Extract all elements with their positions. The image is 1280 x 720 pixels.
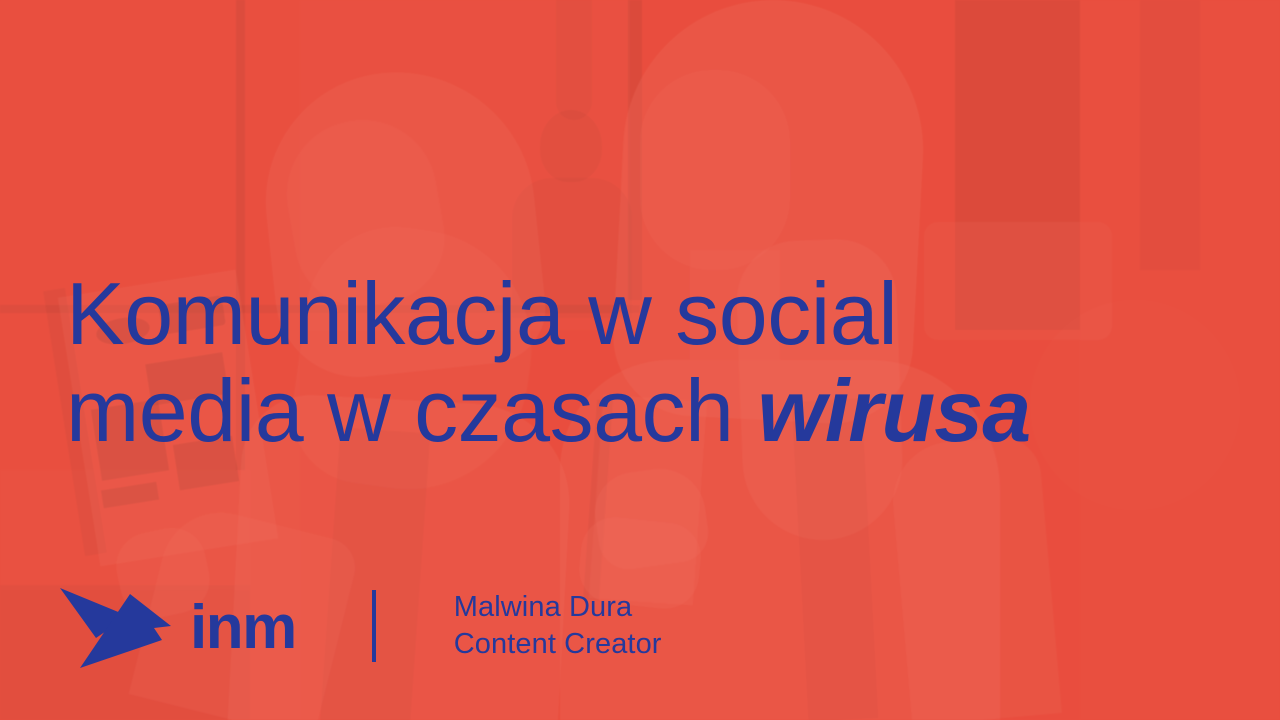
- brand-divider: [372, 590, 376, 662]
- inm-logo-wordmark: inm: [190, 597, 296, 659]
- headline-accent-word: wirusa: [757, 361, 1030, 460]
- presentation-slide: Komunikacja w social media w czasach wir…: [0, 0, 1280, 720]
- headline-line-2-prefix: media w czasach: [66, 361, 757, 460]
- headline-line-1: Komunikacja w social: [66, 264, 897, 363]
- page-title: Komunikacja w social media w czasach wir…: [66, 265, 1136, 459]
- inm-bird-logo-icon: [58, 582, 176, 670]
- presenter-credit: Malwina Dura Content Creator: [454, 589, 662, 663]
- brand-footer: inm Malwina Dura Content Creator: [58, 580, 662, 672]
- inm-logo[interactable]: inm: [58, 582, 296, 670]
- presenter-role: Content Creator: [454, 626, 662, 663]
- slide-content: Komunikacja w social media w czasach wir…: [0, 0, 1280, 720]
- presenter-name: Malwina Dura: [454, 589, 662, 626]
